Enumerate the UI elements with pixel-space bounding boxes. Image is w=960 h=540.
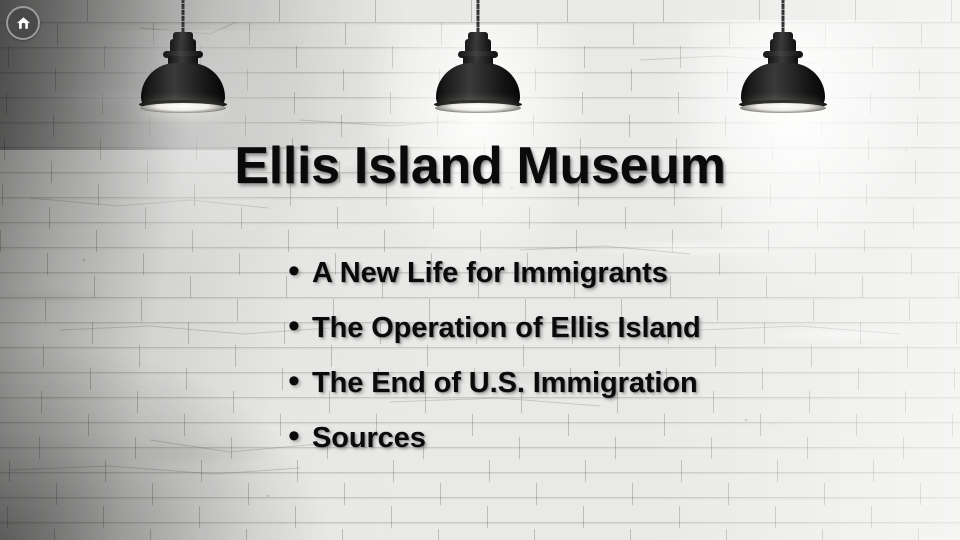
slide-bullet-list: • A New Life for Immigrants • The Operat…	[288, 254, 888, 474]
bullet-marker-icon: •	[288, 364, 312, 398]
list-item-label: Sources	[312, 422, 426, 455]
lamp-inner-rim	[140, 103, 226, 113]
bullet-marker-icon: •	[288, 309, 312, 343]
list-item[interactable]: • Sources	[288, 419, 888, 474]
list-item[interactable]: • A New Life for Immigrants	[288, 254, 888, 309]
list-item-label: The End of U.S. Immigration	[312, 367, 698, 400]
list-item[interactable]: • The Operation of Ellis Island	[288, 309, 888, 364]
lamp-chain-icon	[182, 0, 185, 34]
lamp-inner-rim	[740, 103, 826, 113]
bullet-marker-icon: •	[288, 254, 312, 288]
slide-title: Ellis Island Museum	[0, 136, 960, 196]
list-item-label: A New Life for Immigrants	[312, 257, 668, 290]
presentation-slide: Ellis Island Museum • A New Life for Imm…	[0, 0, 960, 540]
lamp-inner-rim	[435, 103, 521, 113]
list-item-label: The Operation of Ellis Island	[312, 312, 701, 345]
list-item[interactable]: • The End of U.S. Immigration	[288, 364, 888, 419]
lamp-chain-icon	[477, 0, 480, 34]
home-icon	[16, 16, 31, 30]
bullet-marker-icon: •	[288, 419, 312, 453]
lamp-chain-icon	[782, 0, 785, 34]
home-button[interactable]	[6, 6, 40, 40]
